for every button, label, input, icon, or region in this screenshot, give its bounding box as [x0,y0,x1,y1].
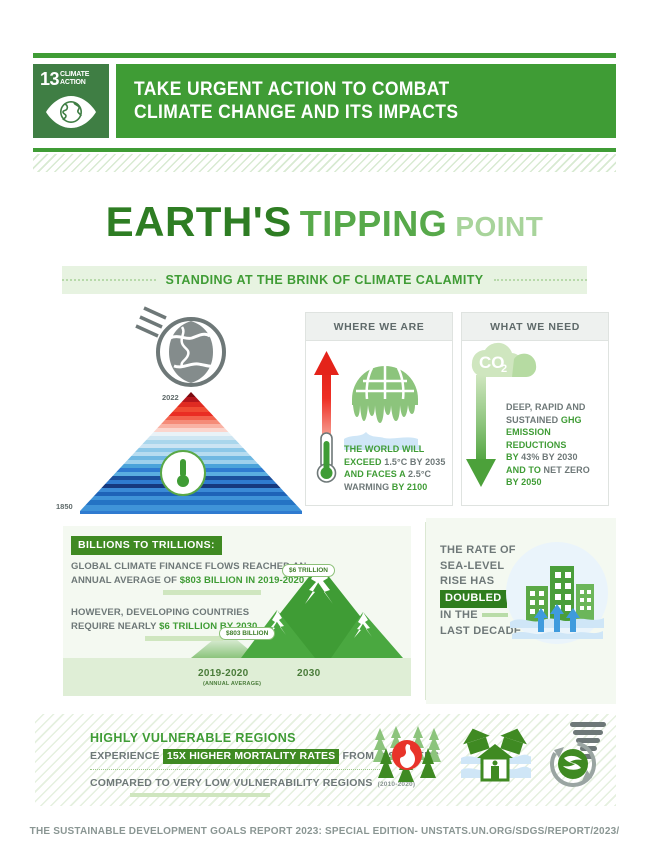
card-what-we-need-body: CO 2 DEEP, RAPID AND SUSTAINED GHG EMISS… [462,341,608,505]
banner-dotted-right [494,279,588,281]
divider-rule [33,148,616,152]
eye-globe-icon [43,94,99,130]
rising-arrows-icon [534,604,580,632]
finance-line-2a: HOWEVER, DEVELOPING COUNTRIES [71,606,249,619]
text-line: DEEP, RAPID AND [506,401,608,414]
finance-underline-2 [145,636,223,641]
header-hatch-divider [33,148,616,172]
vulnerable-regions-section: HIGHLY VULNERABLE REGIONS EXPERIENCE 15X… [35,714,616,806]
subtitle-text: STANDING AT THE BRINK OF CLIMATE CALAMIT… [166,273,484,287]
vulnerable-line3: COMPARED TO VERY LOW VULNERABILITY REGIO… [90,777,415,789]
wildfire-icon [372,724,442,786]
flood-icon [459,724,531,786]
co2-cloud-icon: CO 2 [472,343,536,377]
callout-803-billion: $803 BILLION [219,627,275,640]
rising-sea-city-icon [504,540,610,646]
header-top-rule [33,53,616,58]
sdg-label-line2: ACTION [60,79,89,87]
sdg-number: 13 [40,70,59,88]
page-title: EARTH'STIPPINGPOINT [0,198,649,246]
seg: EXCEED [344,457,384,467]
seg: COMPARED TO VERY LOW VULNERABILITY REGIO… [90,777,373,789]
finance-section: BILLIONS TO TRILLIONS: GLOBAL CLIMATE FI… [35,518,425,704]
goal-title-line1: TAKE URGENT ACTION TO COMBAT [134,78,577,101]
sea-level-section: THE RATE OF SEA-LEVEL RISE HAS DOUBLED I… [426,518,616,704]
vulnerable-dotted-rule [90,769,380,770]
card-where-we-are-header: WHERE WE ARE [306,313,452,341]
text-line: AND FACES A 2.5°C [344,468,446,481]
co2-subscript: 2 [501,363,507,375]
melting-globe-icon [344,366,420,450]
card-what-we-need: WHAT WE NEED CO 2 [461,312,609,506]
card-where-we-are-text: THE WORLD WILL EXCEED 1.5°C BY 2035 AND … [344,443,446,493]
subtitle-banner: STANDING AT THE BRINK OF CLIMATE CALAMIT… [62,266,587,294]
text-line: BY 2050 [506,476,608,489]
triangle-label-top-year: 2022 [162,393,179,402]
doubled-badge: DOUBLED [440,590,507,609]
callout-6-trillion: $6 TRILLION [282,564,335,577]
sdg-label: CLIMATE ACTION [60,71,89,87]
seg: AND FACES A [344,469,408,479]
sdg-13-logo: 13 CLIMATE ACTION [33,64,109,138]
seg: ANNUAL AVERAGE OF [71,575,180,586]
card-what-we-need-header: WHAT WE NEED [462,313,608,341]
up-arrow-icon [314,351,339,439]
seg: NET ZERO [544,465,590,475]
down-arrow-icon [466,375,496,487]
text-line: EXCEED 1.5°C BY 2035 [344,456,446,469]
finance-line-1b: ANNUAL AVERAGE OF $803 BILLION IN 2019-2… [71,574,304,587]
seg: BY 2100 [392,482,428,492]
goal-title-banner: TAKE URGENT ACTION TO COMBAT CLIMATE CHA… [116,64,616,138]
title-word-point: POINT [455,211,543,242]
banner-dotted-left [62,279,156,281]
title-word-earths: EARTH'S [106,198,292,245]
seg: DEEP, RAPID AND [506,402,586,412]
text-line: SUSTAINED GHG [506,414,608,427]
sea-level-line5: IN THE [440,609,478,621]
finance-underline-1 [163,590,261,595]
seg: EXPERIENCE [90,750,163,762]
seg: AND TO [506,465,544,475]
seg: GHG [561,415,582,425]
text-line: THE WORLD WILL [344,443,446,456]
card-what-we-need-text: DEEP, RAPID AND SUSTAINED GHG EMISSION R… [506,401,608,489]
seg: BY [506,452,521,462]
text-line: WARMING BY 2100 [344,481,446,494]
finance-line-1a: GLOBAL CLIMATE FINANCE FLOWS REACHED AN [71,560,306,573]
triangle-label-bottom-year: 1850 [56,502,73,511]
thermometer-badge [160,450,206,496]
seg: BY 2050 [506,477,542,487]
title-word-tipping: TIPPING [300,203,448,244]
vulnerable-underline [130,793,270,797]
triangle-baseline [80,511,302,514]
mortality-highlight: 15X HIGHER MORTALITY RATES [163,749,340,764]
vulnerable-title: HIGHLY VULNERABLE REGIONS [90,731,296,745]
card-where-we-are-body: THE WORLD WILL EXCEED 1.5°C BY 2035 AND … [306,341,452,505]
text-line: BY 43% BY 2030 [506,451,608,464]
billions-to-trillions-badge: BILLIONS TO TRILLIONS: [71,536,222,555]
seg: 43% BY 2030 [521,452,577,462]
globe-icon [158,319,224,385]
warming-stripes-triangle: 2022 1850 [50,300,312,518]
seg: REQUIRE NEARLY [71,621,159,632]
axis-label-2030: 2030 [297,668,320,679]
seg: 2.5°C [408,469,431,479]
text-line: EMISSION REDUCTIONS [506,426,608,451]
thermometer-icon [173,457,193,489]
thermometer-outline-icon [318,433,336,482]
axis-sublabel-annual-average: (ANNUAL AVERAGE) [203,681,261,687]
axis-label-2019-2020: 2019-2020 [198,668,249,679]
divider-hatch-pattern [33,154,616,172]
footer-source: THE SUSTAINABLE DEVELOPMENT GOALS REPORT… [0,826,649,837]
sdg-label-line1: CLIMATE [60,71,89,79]
text-line: AND TO NET ZERO [506,464,608,477]
seg: SUSTAINED [506,415,561,425]
seg: WARMING [344,482,392,492]
infographic-page: 13 CLIMATE ACTION TAKE URGENT ACTION TO … [0,0,649,865]
card-where-we-are: WHERE WE ARE [305,312,453,506]
cyclone-icon [540,720,612,788]
seg: 1.5°C BY 2035 [384,457,445,467]
goal-title-line2: CLIMATE CHANGE AND ITS IMPACTS [134,101,577,124]
seg: EMISSION REDUCTIONS [506,427,567,450]
heat-rays-icon [136,308,166,336]
seg: THE WORLD WILL [344,444,424,454]
